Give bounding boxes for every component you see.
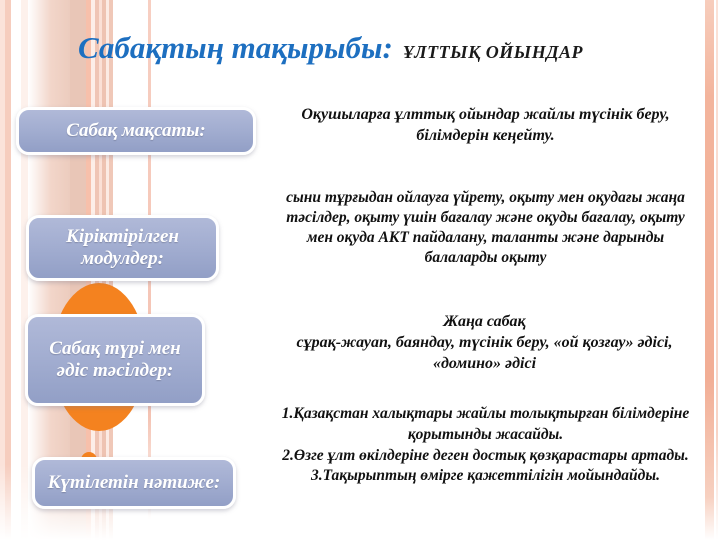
content-expected-result-item-1: 1.Қазақстан халықтары жайлы толықтырған … bbox=[258, 404, 713, 446]
content-expected-result-item-3: 3.Тақырыптың өмірге қажеттілігін мойында… bbox=[258, 466, 713, 487]
content-expected-result: 1.Қазақстан халықтары жайлы толықтырған … bbox=[258, 404, 713, 487]
label-lesson-goal[interactable]: Сабақ мақсаты: bbox=[16, 107, 256, 155]
slide-title-subject: ҰЛТТЫҚ ОЙЫНДАР bbox=[403, 42, 583, 62]
slide-canvas: Сабақтың тақырыбы:ҰЛТТЫҚ ОЙЫНДАР Сабақ м… bbox=[0, 0, 720, 540]
label-lesson-goal-text: Сабақ мақсаты: bbox=[66, 120, 206, 142]
label-expected-result[interactable]: Күтілетін нәтиже: bbox=[32, 457, 236, 509]
content-integrated-modules: сыни тұрғыдан ойлауға үйрету, оқыту мен … bbox=[278, 188, 693, 269]
slide-title-main: Сабақтың тақырыбы: bbox=[78, 30, 393, 65]
slide-title: Сабақтың тақырыбы:ҰЛТТЫҚ ОЙЫНДАР bbox=[78, 30, 688, 66]
label-integrated-modules-text: Кіріктірілген модулдер: bbox=[35, 226, 210, 271]
label-integrated-modules[interactable]: Кіріктірілген модулдер: bbox=[26, 215, 219, 281]
label-expected-result-text: Күтілетін нәтиже: bbox=[48, 472, 221, 494]
content-lesson-type: Жаңа сабақ сұрақ-жауап, баяндау, түсінік… bbox=[272, 312, 697, 374]
content-lesson-type-line1: Жаңа сабақ bbox=[272, 312, 697, 333]
content-expected-result-item-2: 2.Өзге ұлт өкілдеріне деген достық қөзқа… bbox=[258, 446, 713, 467]
content-lesson-goal: Оқушыларға ұлттық ойындар жайлы түсінік … bbox=[278, 104, 693, 146]
label-lesson-type-text: Сабақ түрі мен әдіс тәсілдер: bbox=[34, 338, 196, 383]
content-lesson-type-line2: сұрақ-жауап, баяндау, түсінік беру, «ой … bbox=[272, 333, 697, 375]
label-lesson-type[interactable]: Сабақ түрі мен әдіс тәсілдер: bbox=[25, 314, 205, 406]
right-edge-border-thin bbox=[716, 0, 718, 540]
